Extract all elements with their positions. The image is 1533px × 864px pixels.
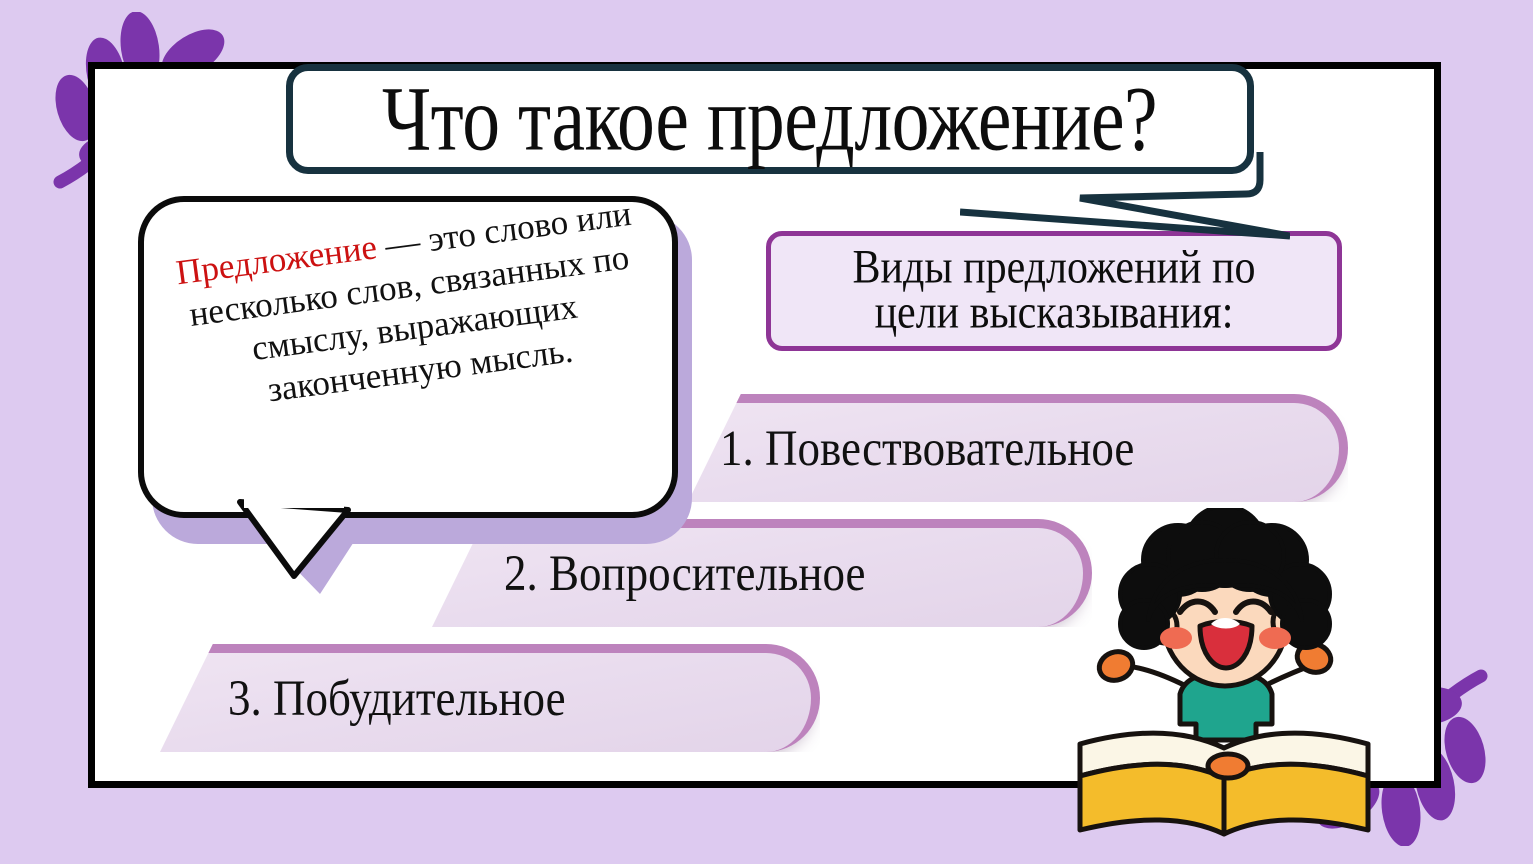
definition-callout-tail (234, 496, 354, 580)
types-heading-box: Виды предложений по цели высказывания: (766, 231, 1342, 351)
page-title: Что такое предложение? (286, 64, 1254, 174)
type-banner-1[interactable]: 1. Повествовательное (688, 394, 1348, 502)
type-banner-3-label: 3. Побудительное (228, 669, 566, 727)
types-heading-line-2: цели высказывания: (875, 288, 1234, 340)
type-banner-1-label: 1. Повествовательное (720, 419, 1134, 477)
boy-reading-book-illustration (1068, 508, 1380, 838)
slide-canvas: Что такое предложение? Предложение — это… (0, 0, 1533, 864)
type-banner-3[interactable]: 3. Побудительное (160, 644, 820, 752)
definition-callout: Предложение — это слово или несколько сл… (138, 196, 708, 566)
page-title-text: Что такое предложение? (382, 73, 1157, 165)
